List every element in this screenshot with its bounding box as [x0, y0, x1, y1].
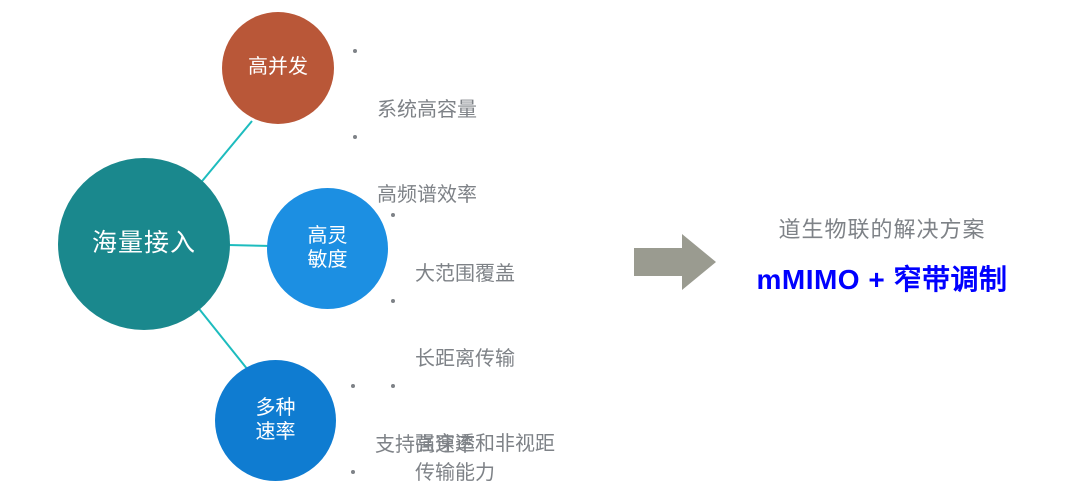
branch-node-multi-rate[interactable]: 多种 速率	[215, 360, 336, 481]
bullet-dot-icon	[391, 213, 395, 217]
bullet-dot-icon	[351, 384, 355, 388]
bullet-dot-icon	[353, 49, 357, 53]
hub-node-label: 海量接入	[92, 229, 196, 259]
bullet-text: 长距离传输	[415, 348, 515, 370]
bullet-text: 系统高容量	[377, 99, 477, 121]
arrow-right-icon	[634, 234, 716, 290]
list-item: 大范围覆盖	[388, 203, 555, 288]
connector-hub-to-high-concurrency	[198, 121, 252, 186]
bullet-dot-icon	[391, 299, 395, 303]
branch-node-high-sensitivity[interactable]: 高灵 敏度	[267, 188, 388, 309]
connector-hub-to-multi-rate	[196, 305, 248, 370]
branch-node-label: 多种 速率	[256, 397, 296, 444]
branch-node-high-concurrency[interactable]: 高并发	[222, 12, 334, 124]
bullet-dot-icon	[351, 470, 355, 474]
bullet-group-high-concurrency: 系统高容量 高频谱效率	[350, 39, 477, 209]
bullet-dot-icon	[353, 135, 357, 139]
branch-node-label: 高并发	[248, 56, 308, 80]
list-item: 高频谱效率	[350, 124, 477, 209]
branch-node-label: 高灵 敏度	[308, 225, 348, 272]
result-block: 道生物联的解决方案 mMIMO + 窄带调制	[722, 212, 1042, 298]
connector-hub-to-high-sensitivity	[228, 245, 272, 246]
bullet-list: 系统高容量 高频谱效率	[350, 39, 477, 209]
bullet-text: 支持高速率	[375, 434, 475, 456]
result-caption: 道生物联的解决方案	[722, 212, 1042, 244]
result-headline: mMIMO + 窄带调制	[722, 258, 1042, 298]
hub-node-mass-access[interactable]: 海量接入	[58, 158, 230, 330]
bullet-text: 大范围覆盖	[415, 263, 515, 285]
bullet-group-multi-rate: 支持高速率 支持多种速率 灵活性	[348, 374, 495, 493]
bullet-list: 支持高速率 支持多种速率 灵活性	[348, 374, 495, 493]
list-item: 支持高速率	[348, 374, 495, 459]
list-item: 支持多种速率	[348, 459, 495, 493]
slide-canvas: 海量接入 高并发 系统高容量 高频谱效率 高灵 敏度 大范围覆盖	[0, 0, 1080, 493]
list-item: 系统高容量	[350, 39, 477, 124]
list-item: 长距离传输	[388, 288, 555, 373]
